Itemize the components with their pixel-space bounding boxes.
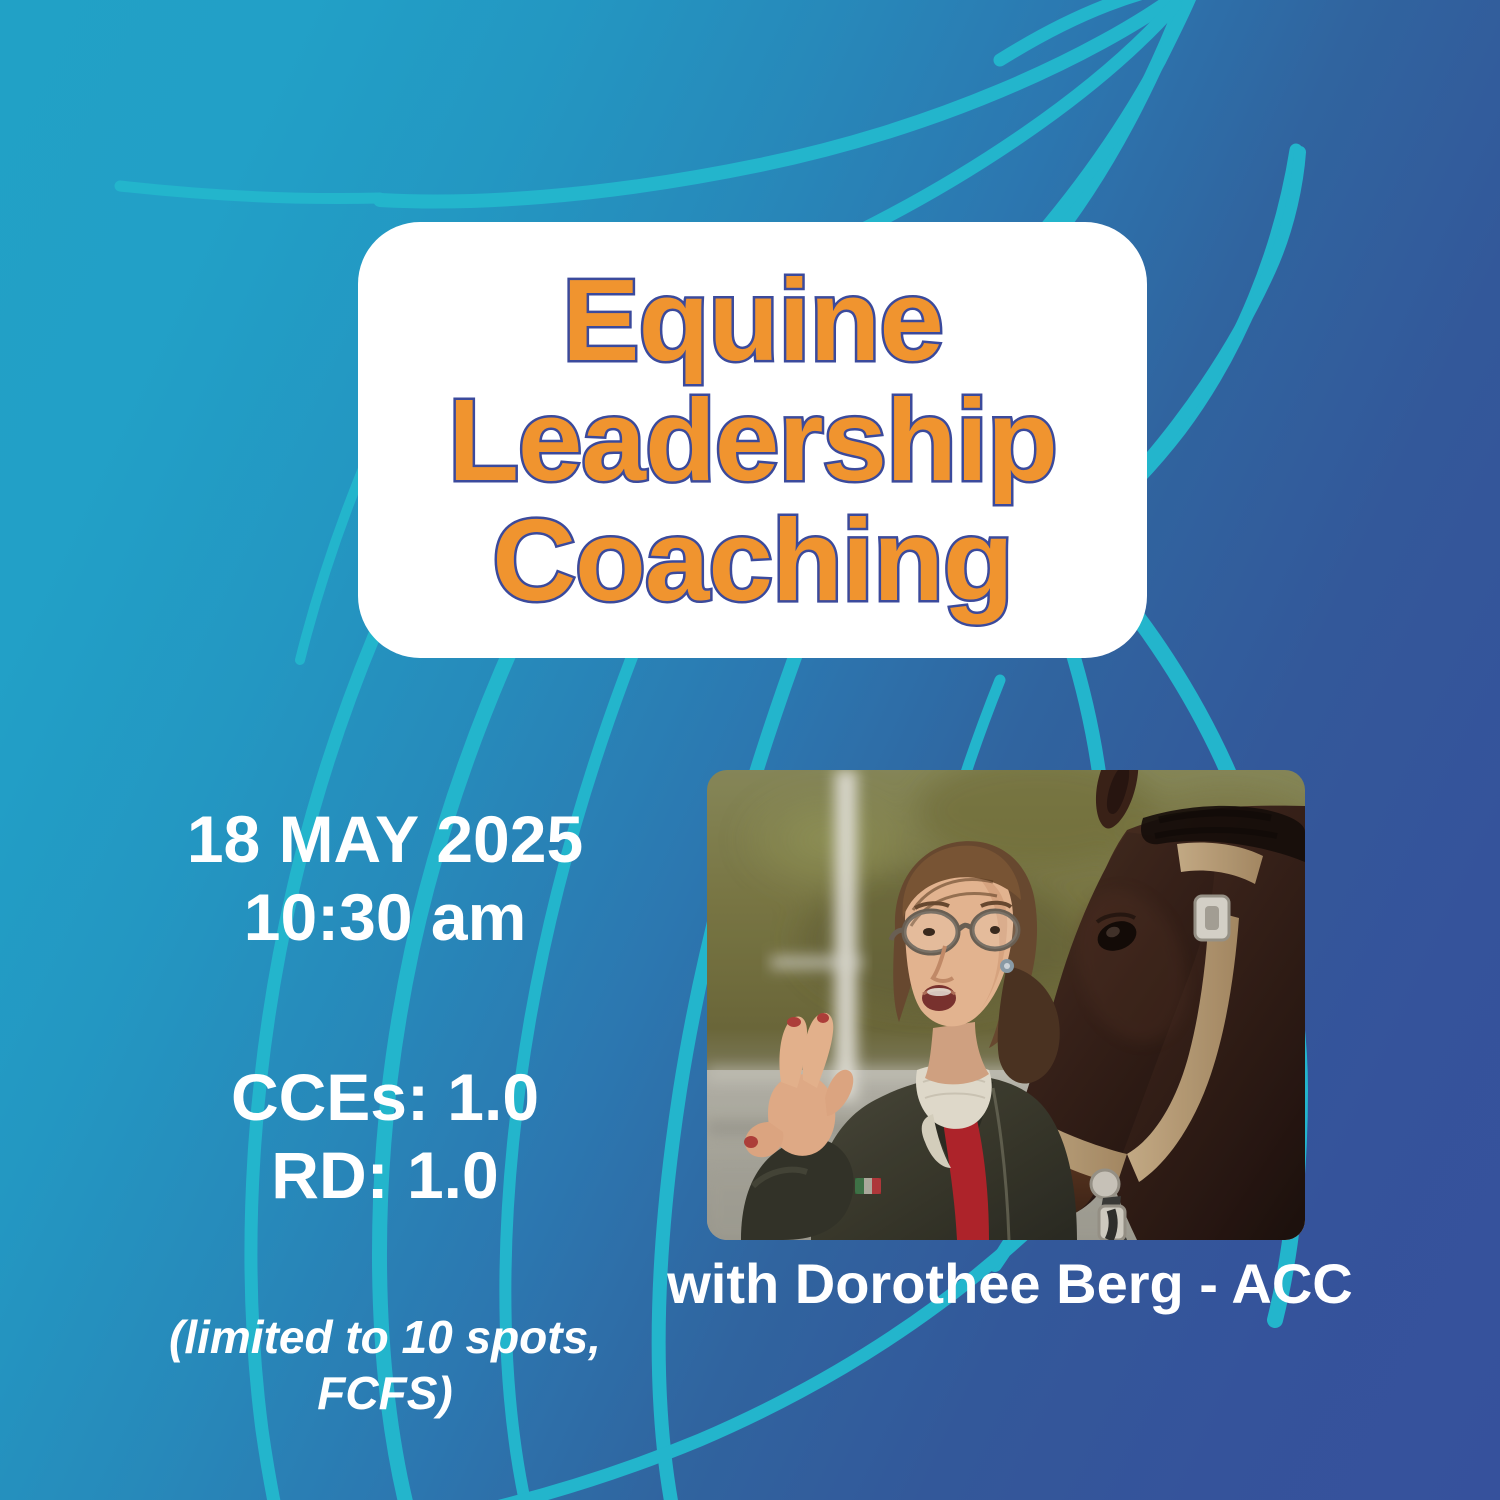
presenter-photo [707,770,1305,1240]
credits-cce: CCEs: 1.0 [105,1058,665,1136]
title-line-1: Equine [562,260,943,380]
capacity-note-line-2: FCFS) [105,1365,665,1421]
event-date: 18 MAY 2025 [105,800,665,878]
title-line-3: Coaching [492,500,1012,620]
capacity-note-line-1: (limited to 10 spots, [105,1309,665,1365]
title-line-2: Leadership [448,380,1057,500]
title-card: Equine Leadership Coaching [358,222,1147,658]
event-time: 10:30 am [105,878,665,956]
presenter-photo-image [707,770,1305,1240]
event-poster: Equine Leadership Coaching 18 MAY 2025 1… [0,0,1500,1500]
credits-rd: RD: 1.0 [105,1136,665,1214]
presenter-caption: with Dorothee Berg - ACC [660,1252,1360,1316]
event-details: 18 MAY 2025 10:30 am CCEs: 1.0 RD: 1.0 (… [105,800,665,1421]
